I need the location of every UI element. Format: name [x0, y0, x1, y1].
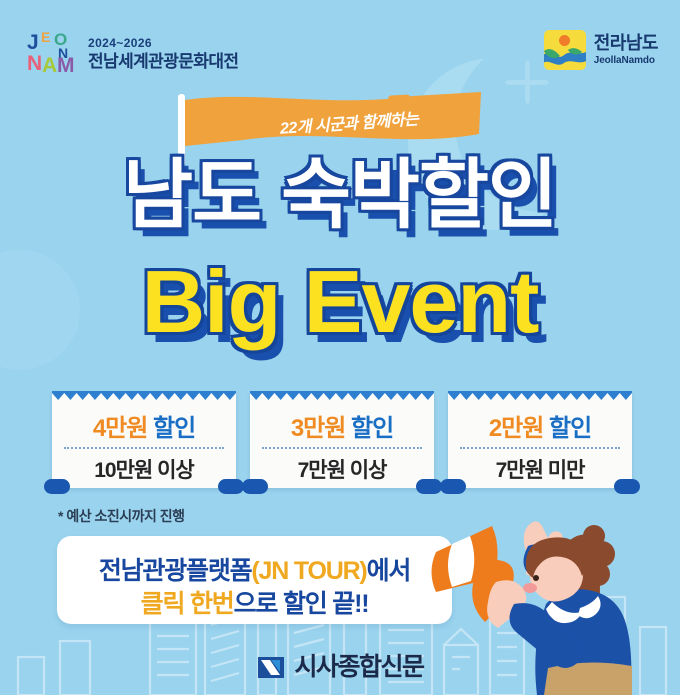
hair-bun-low [586, 562, 610, 586]
callout-line-2: 클릭 한번으로 할인 끝!! [57, 584, 452, 620]
card-divider [460, 447, 620, 449]
logo-letter-a: A [42, 55, 57, 76]
jeollanamdo-logo-text: 전라남도 JeollaNamdo [594, 33, 658, 67]
event-name-ko: 전남세계관광문화대전 [88, 51, 238, 72]
discount-card[interactable]: 3만원 할인 7만원 이상 [250, 392, 434, 488]
callout-discount-done: 으로 할인 끝!! [234, 590, 369, 618]
callout-line-1: 전남관광플랫폼(JN TOUR)에서 [57, 551, 452, 587]
province-name-en: JeollaNamdo [594, 54, 658, 67]
page-title-korean: 남도 숙박할인 [0, 158, 680, 234]
discount-cards: 4만원 할인 10만원 이상 3만원 할인 7만원 이상 [52, 392, 632, 488]
discount-suffix: 할인 [549, 415, 591, 442]
ticket-tab-left [440, 479, 466, 494]
publisher-name: 시사종합신문 [294, 655, 423, 680]
card-divider [262, 447, 422, 449]
newspaper-book-icon [256, 654, 286, 681]
province-name-ko: 전라남도 [594, 33, 658, 54]
event-years: 2024~2026 [88, 36, 238, 51]
jeonnam-event-logo: J E O N N A M 2024~2026 전남세계관광문화대전 [27, 28, 327, 80]
sun-icon [559, 35, 570, 46]
ticket-zigzag-edge [448, 391, 632, 400]
discount-suffix: 할인 [153, 415, 195, 442]
discount-condition: 10만원 이상 [52, 454, 236, 484]
ticket-tab-left [242, 479, 268, 494]
discount-card[interactable]: 4만원 할인 10만원 이상 [52, 392, 236, 488]
jeonnam-logo-mark: J E O N N A M [27, 30, 79, 78]
jeollanamdo-logo-mark [544, 30, 586, 70]
wave-leaf-icon [544, 47, 586, 67]
eye [533, 575, 539, 581]
ticket-tab-left [44, 479, 70, 494]
callout-suffix-eseo: 에서 [367, 557, 411, 585]
cta-callout-box[interactable]: 전남관광플랫폼(JN TOUR)에서 클릭 한번으로 할인 끝!! [57, 536, 452, 624]
logo-letter-m: M [57, 55, 75, 76]
logo-letter-e: E [41, 30, 50, 44]
ticket-zigzag-edge [250, 391, 434, 400]
publisher-logo: 시사종합신문 [0, 654, 680, 681]
discount-amount: 2만원 [489, 415, 544, 442]
callout-platform-name: 전남관광플랫폼 [99, 557, 252, 585]
budget-note: * 예산 소진시까지 진행 [58, 506, 185, 526]
discount-amount: 4만원 [93, 415, 148, 442]
discount-amount-row: 2만원 할인 [448, 408, 632, 443]
jeonnam-logo-text: 2024~2026 전남세계관광문화대전 [88, 36, 238, 72]
discount-condition: 7만원 미만 [448, 454, 632, 484]
megaphone-stripe [448, 536, 474, 587]
jeollanamdo-logo: 전라남도 JeollaNamdo [544, 30, 658, 70]
discount-card[interactable]: 2만원 할인 7만원 미만 [448, 392, 632, 488]
card-divider [64, 447, 224, 449]
promo-poster: J E O N N A M 2024~2026 전남세계관광문화대전 전라남도 … [0, 0, 680, 695]
ticket-zigzag-edge [52, 391, 236, 400]
callout-click-once: 클릭 한번 [141, 590, 234, 618]
logo-letter-n: N [27, 53, 42, 74]
page-title-english: Big Event [0, 258, 680, 346]
sparkle-icon [505, 60, 549, 104]
cheek-blush [523, 583, 537, 593]
discount-amount: 3만원 [291, 415, 346, 442]
ticket-tab-right [614, 479, 640, 494]
discount-amount-row: 3만원 할인 [250, 408, 434, 443]
callout-jntour-label: (JN TOUR) [251, 557, 366, 585]
logo-letter-j: J [27, 32, 39, 53]
ticket-tab-right [218, 479, 244, 494]
ticket-tab-right [416, 479, 442, 494]
discount-suffix: 할인 [351, 415, 393, 442]
discount-condition: 7만원 이상 [250, 454, 434, 484]
discount-amount-row: 4만원 할인 [52, 408, 236, 443]
